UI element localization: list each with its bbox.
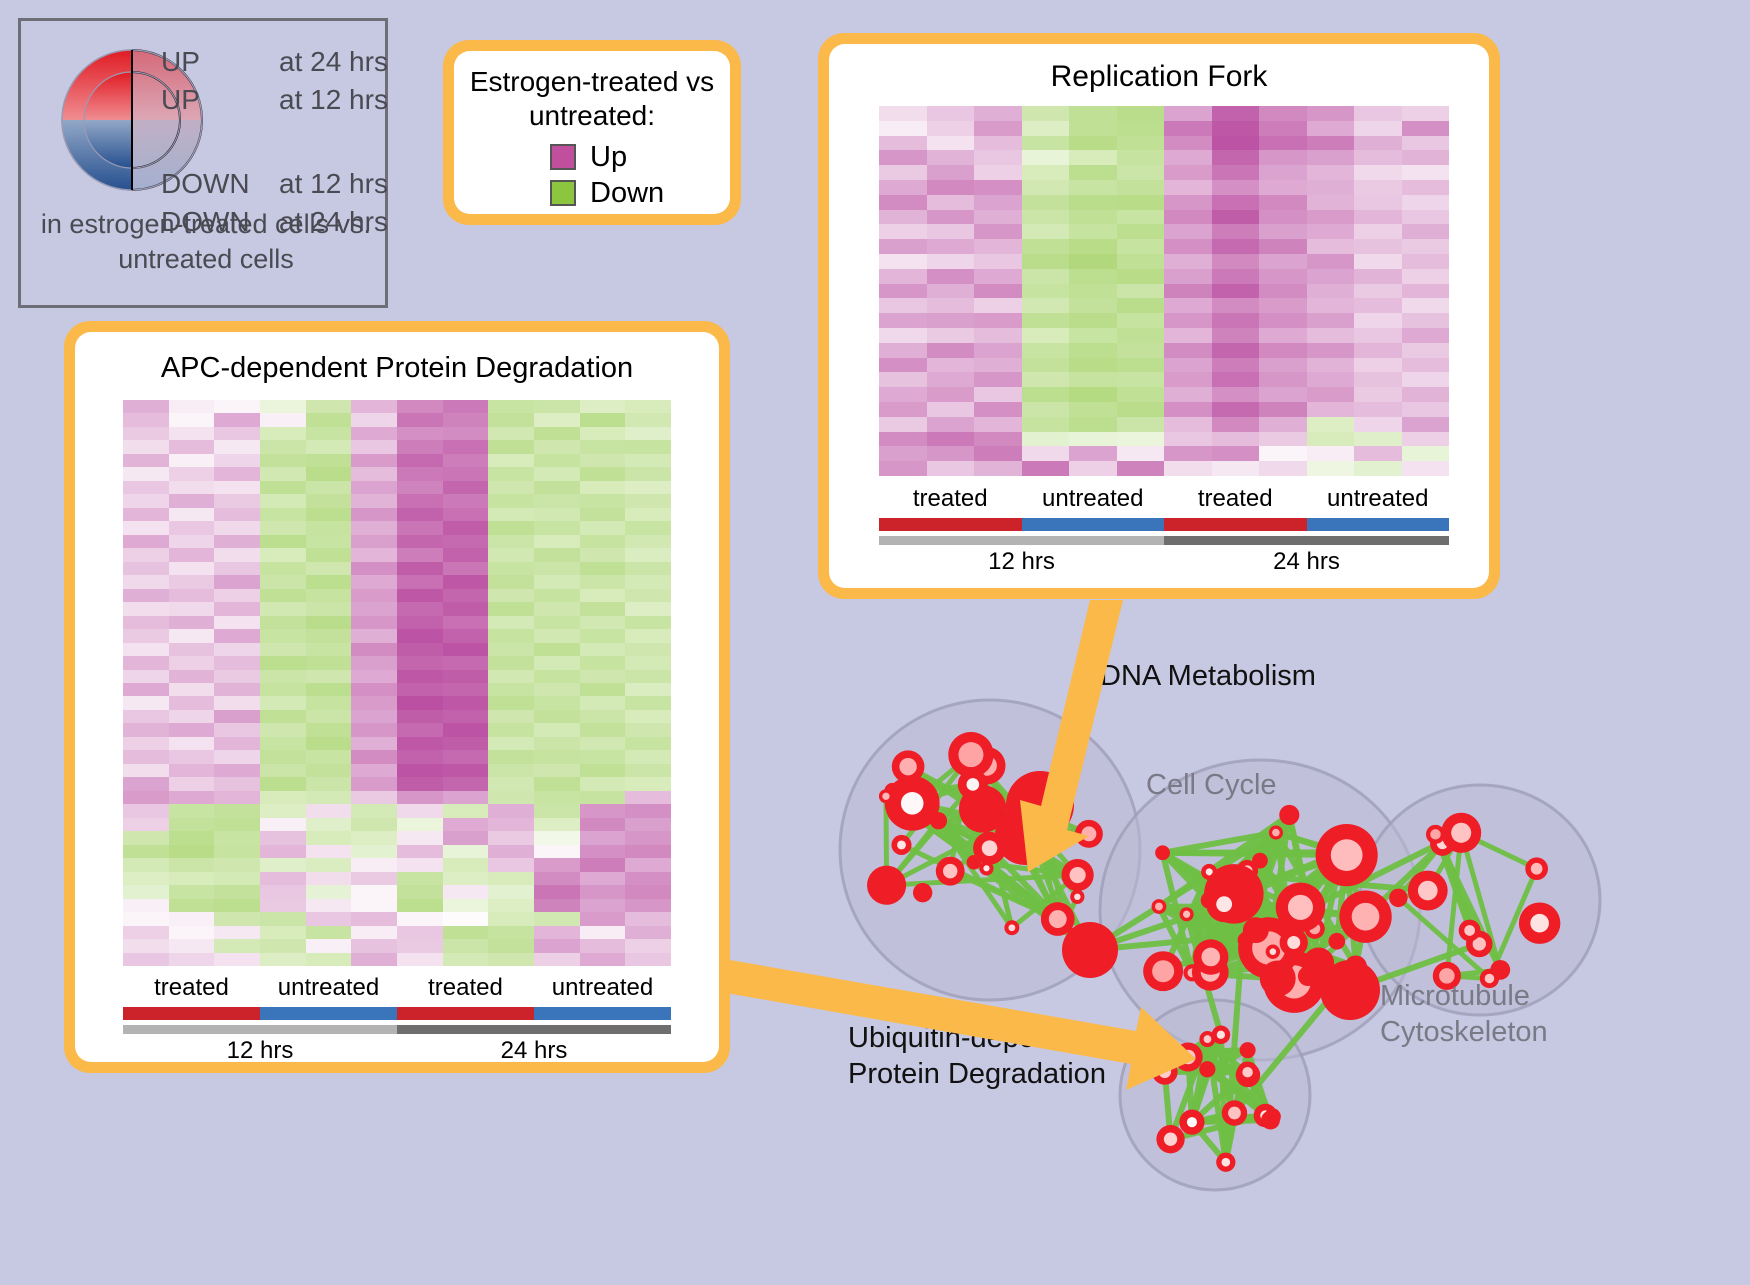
heatmap-cell xyxy=(1117,432,1165,447)
heatmap-cell xyxy=(169,400,215,413)
network-node-core xyxy=(899,758,916,775)
group-label: untreated xyxy=(1307,485,1450,515)
heatmap-cell xyxy=(534,440,580,453)
heatmap-cell xyxy=(1307,150,1355,165)
network-node xyxy=(867,866,906,905)
heatmap-cell xyxy=(123,912,169,925)
heatmap-cell xyxy=(625,494,671,507)
heatmap-cell xyxy=(397,899,443,912)
heatmap-cell xyxy=(1069,106,1117,121)
heatmap-cell xyxy=(306,845,352,858)
heatmap-cell xyxy=(397,454,443,467)
heatmap-cell xyxy=(974,387,1022,402)
heatmap-cell xyxy=(260,535,306,548)
heatmap-cell xyxy=(1069,358,1117,373)
heatmap-cell xyxy=(1022,461,1070,476)
heatmap-cell xyxy=(1402,358,1450,373)
heatmap-cell xyxy=(397,616,443,629)
heatmap-cell xyxy=(306,670,352,683)
heatmap-cell xyxy=(1307,432,1355,447)
heatmap-cell xyxy=(169,845,215,858)
colorwheel-value: at 12 hrs xyxy=(279,81,388,119)
heatmap-cell xyxy=(214,440,260,453)
heatmap-cell xyxy=(1259,284,1307,299)
heatmap-cell xyxy=(879,150,927,165)
heatmap-cell xyxy=(580,562,626,575)
heatmap-cell xyxy=(1117,224,1165,239)
network-node-core xyxy=(1204,1035,1212,1043)
heatmap-cell xyxy=(443,926,489,939)
heatmap-cell xyxy=(260,562,306,575)
heatmap-cell xyxy=(214,912,260,925)
heatmap-cell xyxy=(1212,195,1260,210)
heatmap-cell xyxy=(534,400,580,413)
heatmap-cell xyxy=(443,548,489,561)
heatmap-cell xyxy=(443,953,489,966)
heatmap-cell xyxy=(214,885,260,898)
heatmap-cell xyxy=(306,750,352,763)
colorwheel-value: at 24 hrs xyxy=(279,43,388,81)
heatmap-cell xyxy=(879,461,927,476)
heatmap-cell xyxy=(123,885,169,898)
heatmap-cell xyxy=(534,791,580,804)
heatmap-cell xyxy=(488,710,534,723)
heatmap-cell xyxy=(443,616,489,629)
heatmap-cell xyxy=(306,616,352,629)
network-node xyxy=(995,805,1055,865)
heatmap-cell xyxy=(1212,387,1260,402)
heatmap-cell xyxy=(1022,284,1070,299)
heatmap-cell xyxy=(443,508,489,521)
network-node xyxy=(1240,1042,1256,1058)
heatmap-cell xyxy=(443,831,489,844)
heatmap-cell xyxy=(1307,313,1355,328)
heatmap-cell xyxy=(1022,106,1070,121)
heatmap-cell xyxy=(169,710,215,723)
heatmap-cell xyxy=(1307,358,1355,373)
heatmap-cell xyxy=(260,845,306,858)
heatmap-cell xyxy=(351,643,397,656)
updown-legend-title: Estrogen-treated vs untreated: xyxy=(454,65,730,133)
heatmap-cell xyxy=(1069,284,1117,299)
heatmap-cell xyxy=(306,562,352,575)
heatmap-cell xyxy=(123,791,169,804)
heatmap-cell xyxy=(974,432,1022,447)
heatmap-cell xyxy=(534,723,580,736)
heatmap-cell xyxy=(625,440,671,453)
heatmap-cell xyxy=(443,899,489,912)
heatmap-cell xyxy=(306,508,352,521)
heatmap-cell xyxy=(1069,121,1117,136)
heatmap-cell xyxy=(351,804,397,817)
heatmap-cell xyxy=(260,912,306,925)
heatmap-cell xyxy=(1402,165,1450,180)
heatmap-cell xyxy=(879,210,927,225)
heatmap-cell xyxy=(351,629,397,642)
heatmap-cell xyxy=(625,535,671,548)
heatmap-cell xyxy=(580,858,626,871)
updown-legend-panel: Estrogen-treated vs untreated: Up Down xyxy=(443,40,741,225)
heatmap-cell xyxy=(927,224,975,239)
legend-item-label: Down xyxy=(590,177,664,210)
heatmap-cell xyxy=(1117,254,1165,269)
heatmap-cell xyxy=(169,629,215,642)
heatmap-cell xyxy=(534,508,580,521)
heatmap-cell xyxy=(580,521,626,534)
network-node xyxy=(1155,845,1170,860)
heatmap-cell xyxy=(580,939,626,952)
heatmap-cell xyxy=(580,750,626,763)
heatmap-cell xyxy=(488,939,534,952)
heatmap-cell xyxy=(1212,224,1260,239)
heatmap-cell xyxy=(1259,387,1307,402)
heatmap-cell xyxy=(625,467,671,480)
heatmap-cell xyxy=(260,589,306,602)
heatmap-cell xyxy=(1402,298,1450,313)
group-label: treated xyxy=(397,974,534,1004)
heatmap-cell xyxy=(625,710,671,723)
heatmap-cell xyxy=(1307,417,1355,432)
heatmap-cell xyxy=(1069,387,1117,402)
heatmap-cell xyxy=(580,535,626,548)
heatmap-cell xyxy=(879,121,927,136)
heatmap-cell xyxy=(351,683,397,696)
heatmap-cell xyxy=(625,656,671,669)
heatmap-cell xyxy=(443,656,489,669)
apc-degradation-heatmap xyxy=(123,400,671,966)
heatmap-cell xyxy=(351,885,397,898)
heatmap-cell xyxy=(488,548,534,561)
heatmap-cell xyxy=(534,656,580,669)
network-node-core xyxy=(1159,1066,1172,1079)
heatmap-cell xyxy=(397,696,443,709)
heatmap-cell xyxy=(580,777,626,790)
heatmap-cell xyxy=(488,575,534,588)
heatmap-cell xyxy=(625,899,671,912)
heatmap-cell xyxy=(879,432,927,447)
heatmap-cell xyxy=(1069,150,1117,165)
heatmap-cell xyxy=(1164,328,1212,343)
heatmap-cell xyxy=(169,750,215,763)
time-label: 24 hrs xyxy=(1164,548,1449,578)
heatmap-cell xyxy=(1354,239,1402,254)
heatmap-cell xyxy=(306,400,352,413)
heatmap-cell xyxy=(123,400,169,413)
heatmap-cell xyxy=(534,494,580,507)
heatmap-cell xyxy=(488,670,534,683)
heatmap-cell xyxy=(534,616,580,629)
heatmap-cell xyxy=(625,521,671,534)
heatmap-cell xyxy=(1354,358,1402,373)
heatmap-cell xyxy=(169,467,215,480)
heatmap-cell xyxy=(534,885,580,898)
heatmap-cell xyxy=(974,358,1022,373)
heatmap-cell xyxy=(214,521,260,534)
heatmap-cell xyxy=(169,427,215,440)
heatmap-cell xyxy=(488,683,534,696)
time-color-bar xyxy=(879,536,1164,545)
network-node-core xyxy=(1155,903,1163,911)
group-color-bar xyxy=(879,518,1022,531)
heatmap-cell xyxy=(123,939,169,952)
heatmap-cell xyxy=(625,939,671,952)
heatmap-cell xyxy=(534,872,580,885)
heatmap-cell xyxy=(1212,358,1260,373)
heatmap-cell xyxy=(169,926,215,939)
heatmap-cell xyxy=(351,926,397,939)
heatmap-cell xyxy=(1069,417,1117,432)
heatmap-cell xyxy=(169,508,215,521)
heatmap-cell xyxy=(260,602,306,615)
heatmap-cell xyxy=(351,737,397,750)
group-label: untreated xyxy=(1022,485,1165,515)
heatmap-cell xyxy=(169,939,215,952)
heatmap-cell xyxy=(974,106,1022,121)
heatmap-cell xyxy=(214,845,260,858)
heatmap-cell xyxy=(214,764,260,777)
heatmap-cell xyxy=(351,575,397,588)
heatmap-cell xyxy=(1022,372,1070,387)
heatmap-cell xyxy=(580,926,626,939)
heatmap-cell xyxy=(260,467,306,480)
heatmap-cell xyxy=(1212,210,1260,225)
heatmap-cell xyxy=(214,467,260,480)
heatmap-cell xyxy=(488,413,534,426)
heatmap-cell xyxy=(1259,313,1307,328)
heatmap-cell xyxy=(397,912,443,925)
heatmap-cell xyxy=(123,670,169,683)
heatmap-cell xyxy=(1307,372,1355,387)
heatmap-cell xyxy=(214,953,260,966)
heatmap-cell xyxy=(351,562,397,575)
heatmap-cell xyxy=(1117,210,1165,225)
heatmap-cell xyxy=(306,939,352,952)
heatmap-cell xyxy=(625,791,671,804)
heatmap-cell xyxy=(927,417,975,432)
heatmap-cell xyxy=(397,845,443,858)
heatmap-cell xyxy=(1402,150,1450,165)
colorwheel-caption: in estrogen-treated cells vs. untreated … xyxy=(21,207,391,277)
heatmap-cell xyxy=(580,643,626,656)
colorwheel-row: UPat 24 hrs xyxy=(161,43,388,81)
heatmap-cell xyxy=(443,562,489,575)
heatmap-cell xyxy=(580,400,626,413)
heatmap-cell xyxy=(1022,358,1070,373)
heatmap-cell xyxy=(625,562,671,575)
heatmap-cell xyxy=(1259,150,1307,165)
heatmap-cell xyxy=(488,481,534,494)
heatmap-cell xyxy=(1117,106,1165,121)
heatmap-cell xyxy=(625,926,671,939)
heatmap-cell xyxy=(488,521,534,534)
heatmap-cell xyxy=(1022,121,1070,136)
heatmap-cell xyxy=(625,616,671,629)
heatmap-cell xyxy=(879,239,927,254)
heatmap-cell xyxy=(488,589,534,602)
heatmap-cell xyxy=(1212,254,1260,269)
heatmap-cell xyxy=(443,454,489,467)
heatmap-cell xyxy=(488,818,534,831)
heatmap-cell xyxy=(1069,165,1117,180)
heatmap-cell xyxy=(260,831,306,844)
heatmap-cell xyxy=(351,831,397,844)
heatmap-cell xyxy=(443,413,489,426)
heatmap-cell xyxy=(260,939,306,952)
heatmap-cell xyxy=(306,548,352,561)
heatmap-cell xyxy=(580,831,626,844)
heatmap-cell xyxy=(214,939,260,952)
heatmap-cell xyxy=(397,400,443,413)
heatmap-cell xyxy=(1402,446,1450,461)
heatmap-cell xyxy=(580,589,626,602)
heatmap-cell xyxy=(927,121,975,136)
heatmap-cell xyxy=(1164,461,1212,476)
heatmap-cell xyxy=(123,764,169,777)
heatmap-cell xyxy=(397,602,443,615)
heatmap-cell xyxy=(1117,358,1165,373)
heatmap-cell xyxy=(1117,269,1165,284)
heatmap-cell xyxy=(1259,328,1307,343)
heatmap-cell xyxy=(580,440,626,453)
heatmap-cell xyxy=(351,467,397,480)
heatmap-cell xyxy=(1307,195,1355,210)
heatmap-cell xyxy=(534,804,580,817)
heatmap-cell xyxy=(214,750,260,763)
heatmap-cell xyxy=(1117,180,1165,195)
heatmap-cell xyxy=(1259,358,1307,373)
heatmap-cell xyxy=(879,328,927,343)
heatmap-cell xyxy=(488,845,534,858)
heatmap-cell xyxy=(123,737,169,750)
heatmap-cell xyxy=(1259,195,1307,210)
heatmap-cell xyxy=(260,710,306,723)
heatmap-cell xyxy=(1307,387,1355,402)
heatmap-cell xyxy=(260,953,306,966)
network-node-core xyxy=(1228,1107,1241,1120)
heatmap-cell xyxy=(1022,254,1070,269)
heatmap-cell xyxy=(1117,136,1165,151)
heatmap-cell xyxy=(534,912,580,925)
heatmap-cell xyxy=(169,831,215,844)
heatmap-cell xyxy=(169,804,215,817)
network-node xyxy=(1320,960,1380,1020)
network-node-core xyxy=(1152,960,1174,982)
heatmap-cell xyxy=(1117,328,1165,343)
heatmap-cell xyxy=(534,481,580,494)
colorwheel-row: DOWNat 12 hrs xyxy=(161,165,388,203)
heatmap-cell xyxy=(974,284,1022,299)
heatmap-cell xyxy=(214,737,260,750)
heatmap-cell xyxy=(625,548,671,561)
heatmap-cell xyxy=(974,210,1022,225)
network-node-core xyxy=(1164,1132,1177,1145)
heatmap-cell xyxy=(1259,417,1307,432)
heatmap-cell xyxy=(169,656,215,669)
heatmap-cell xyxy=(123,602,169,615)
heatmap-cell xyxy=(123,589,169,602)
heatmap-cell xyxy=(443,912,489,925)
heatmap-cell xyxy=(625,629,671,642)
network-node-core xyxy=(1270,948,1277,955)
heatmap-cell xyxy=(580,899,626,912)
heatmap-cell xyxy=(1212,313,1260,328)
heatmap-cell xyxy=(1022,136,1070,151)
network-node xyxy=(1261,1111,1280,1130)
heatmap-cell xyxy=(260,643,306,656)
heatmap-cell xyxy=(214,683,260,696)
heatmap-cell xyxy=(1164,254,1212,269)
heatmap-cell xyxy=(169,696,215,709)
heatmap-cell xyxy=(1022,269,1070,284)
heatmap-cell xyxy=(1259,136,1307,151)
heatmap-cell xyxy=(169,858,215,871)
heatmap-cell xyxy=(1069,328,1117,343)
heatmap-cell xyxy=(260,885,306,898)
heatmap-cell xyxy=(488,953,534,966)
network-node-core xyxy=(1074,894,1080,900)
heatmap-cell xyxy=(1212,298,1260,313)
heatmap-cell xyxy=(351,508,397,521)
heatmap-cell xyxy=(488,858,534,871)
network-node-core xyxy=(1430,829,1440,839)
heatmap-cell xyxy=(397,750,443,763)
group-color-bar xyxy=(1307,518,1450,531)
heatmap-cell xyxy=(1069,461,1117,476)
heatmap-cell xyxy=(397,872,443,885)
heatmap-cell xyxy=(488,696,534,709)
heatmap-cell xyxy=(1117,461,1165,476)
heatmap-cell xyxy=(1354,446,1402,461)
heatmap-cell xyxy=(927,165,975,180)
heatmap-cell xyxy=(351,845,397,858)
heatmap-cell xyxy=(169,737,215,750)
heatmap-cell xyxy=(260,764,306,777)
heatmap-cell xyxy=(123,953,169,966)
heatmap-cell xyxy=(351,670,397,683)
heatmap-cell xyxy=(1022,195,1070,210)
heatmap-cell xyxy=(1164,195,1212,210)
replication-fork-time-labels: 12 hrs24 hrs xyxy=(879,548,1449,578)
heatmap-cell xyxy=(1212,446,1260,461)
heatmap-cell xyxy=(1354,136,1402,151)
updown-legend-items: Up Down xyxy=(454,139,730,211)
heatmap-cell xyxy=(214,602,260,615)
heatmap-cell xyxy=(1117,298,1165,313)
heatmap-cell xyxy=(534,953,580,966)
heatmap-cell xyxy=(580,454,626,467)
heatmap-cell xyxy=(169,481,215,494)
heatmap-cell xyxy=(214,670,260,683)
heatmap-cell xyxy=(534,467,580,480)
heatmap-cell xyxy=(1259,343,1307,358)
heatmap-cell xyxy=(1259,210,1307,225)
heatmap-cell xyxy=(1164,136,1212,151)
heatmap-cell xyxy=(534,535,580,548)
heatmap-cell xyxy=(927,210,975,225)
heatmap-cell xyxy=(1022,328,1070,343)
heatmap-cell xyxy=(306,683,352,696)
heatmap-cell xyxy=(927,298,975,313)
heatmap-cell xyxy=(1022,343,1070,358)
heatmap-cell xyxy=(625,602,671,615)
heatmap-cell xyxy=(1212,239,1260,254)
network-node xyxy=(1389,889,1407,907)
heatmap-cell xyxy=(580,427,626,440)
network-node xyxy=(1279,805,1299,825)
heatmap-cell xyxy=(488,656,534,669)
heatmap-cell xyxy=(1022,402,1070,417)
heatmap-cell xyxy=(534,548,580,561)
